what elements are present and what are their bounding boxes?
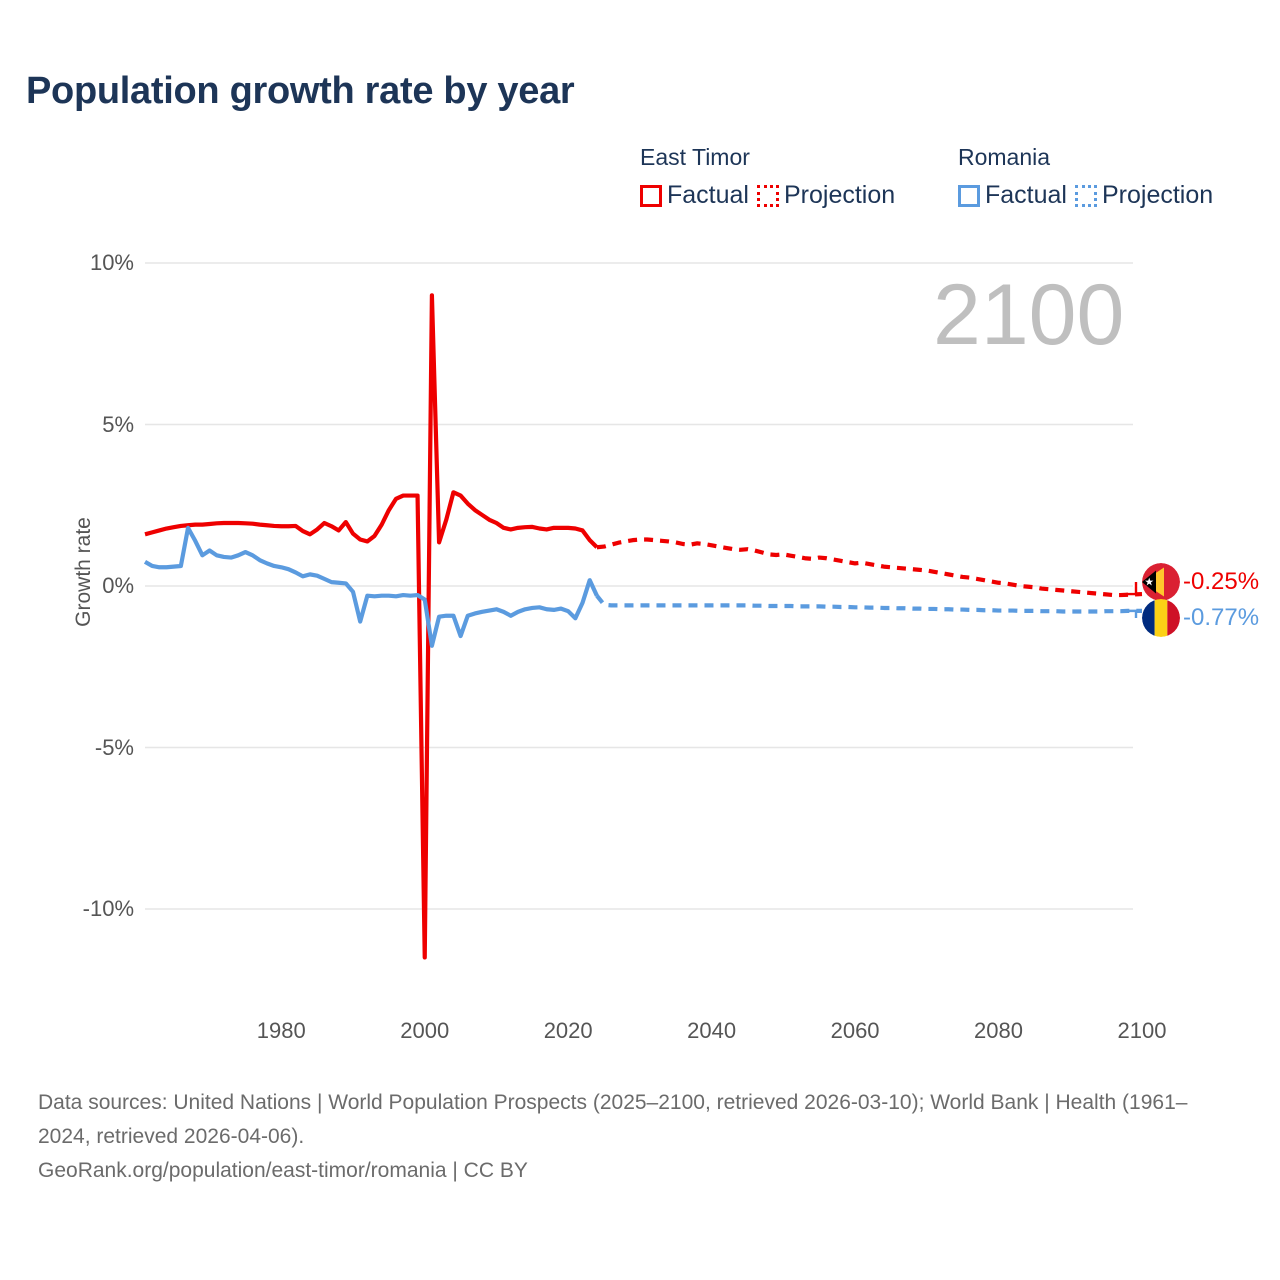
end-value-east-timor: -0.25% xyxy=(1183,568,1259,596)
y-axis-tick-label: 0% xyxy=(102,573,134,599)
romania-flag-icon xyxy=(1142,599,1180,637)
series-line-east-timor-factual xyxy=(145,295,597,957)
end-connector xyxy=(1126,611,1136,618)
chart-container: Population growth rate by year East Timo… xyxy=(0,0,1280,1280)
y-axis-tick-label: 10% xyxy=(90,250,134,276)
footer-attribution: GeoRank.org/population/east-timor/romani… xyxy=(38,1154,1238,1188)
chart-footer: Data sources: United Nations | World Pop… xyxy=(38,1086,1238,1188)
x-axis-tick-label: 2020 xyxy=(544,1018,593,1044)
east-timor-flag-icon xyxy=(1142,563,1180,601)
series-line-romania-projection xyxy=(597,596,1142,612)
footer-data-sources: Data sources: United Nations | World Pop… xyxy=(38,1086,1238,1154)
x-axis-tick-label: 2000 xyxy=(400,1018,449,1044)
y-axis-tick-label: -5% xyxy=(95,735,134,761)
y-axis-tick-label: -10% xyxy=(83,896,134,922)
x-axis-tick-label: 2040 xyxy=(687,1018,736,1044)
end-connector xyxy=(1126,582,1136,594)
x-axis-tick-label: 2060 xyxy=(831,1018,880,1044)
x-axis-tick-label: 1980 xyxy=(257,1018,306,1044)
series-line-romania-factual xyxy=(145,528,597,646)
end-value-romania: -0.77% xyxy=(1183,604,1259,632)
y-axis-tick-label: 5% xyxy=(102,412,134,438)
x-axis-tick-label: 2080 xyxy=(974,1018,1023,1044)
x-axis-tick-label: 2100 xyxy=(1118,1018,1167,1044)
